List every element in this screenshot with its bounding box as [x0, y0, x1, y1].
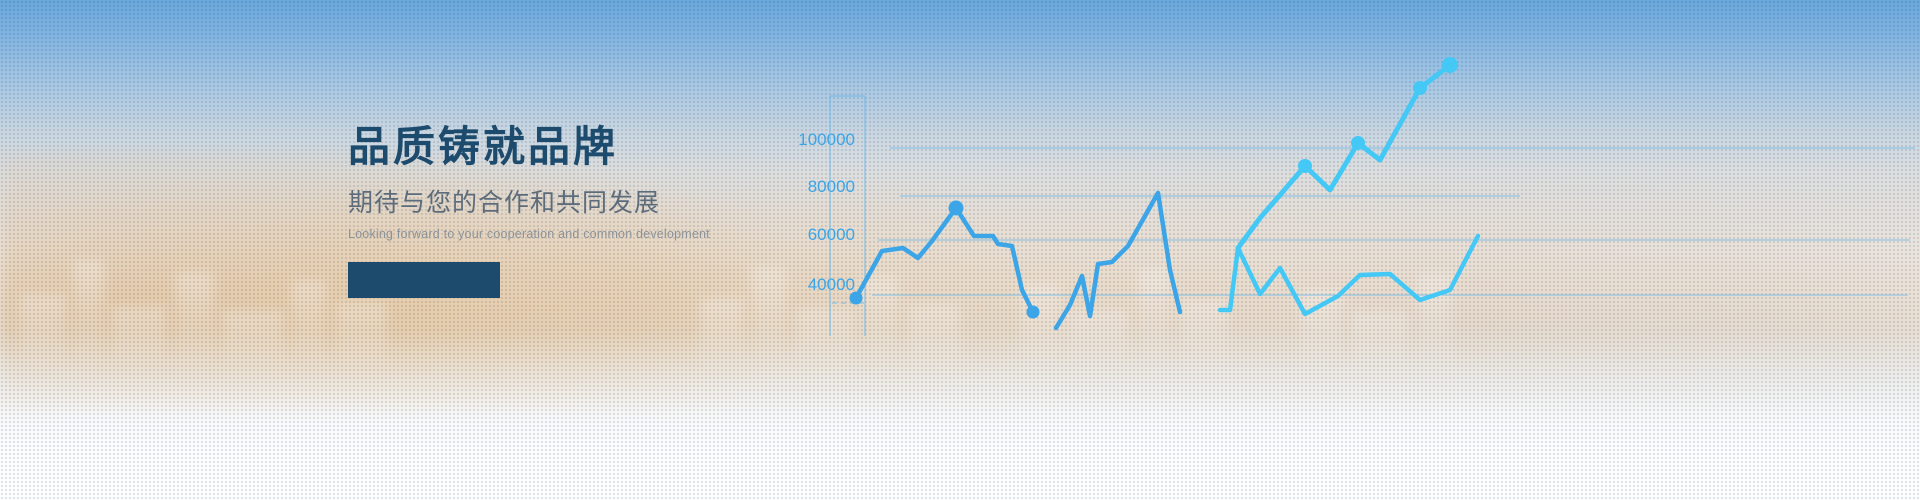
y-axis-tick-60000: 60000	[808, 225, 855, 244]
cta-button[interactable]	[348, 262, 500, 298]
series-4-marker	[1351, 136, 1365, 150]
series-4-marker	[1298, 159, 1312, 173]
hero-banner: 100000 80000 60000 40000	[0, 0, 1920, 500]
chart-svg: 100000 80000 60000 40000	[760, 0, 1920, 500]
y-axis-tick-80000: 80000	[808, 177, 855, 196]
series-1-marker	[1027, 306, 1040, 319]
series-4-marker	[1413, 81, 1427, 95]
series-3-line	[1220, 236, 1478, 314]
y-axis-tick-40000: 40000	[808, 275, 855, 294]
series-4-marker	[1442, 57, 1458, 73]
gridlines	[872, 148, 1915, 295]
series-1-marker	[850, 292, 863, 305]
series-1-line	[856, 208, 1033, 312]
series-1-marker	[949, 201, 964, 216]
copy-block: 品质铸就品牌 期待与您的合作和共同发展 Looking forward to y…	[348, 125, 778, 298]
series-2-line	[1056, 193, 1180, 328]
line-chart-graphic: 100000 80000 60000 40000	[760, 0, 1920, 500]
y-axis-tick-100000: 100000	[798, 130, 855, 149]
page-title: 品质铸就品牌	[348, 125, 778, 169]
subtitle-english: Looking forward to your cooperation and …	[348, 227, 778, 242]
subtitle-chinese: 期待与您的合作和共同发展	[348, 190, 778, 218]
